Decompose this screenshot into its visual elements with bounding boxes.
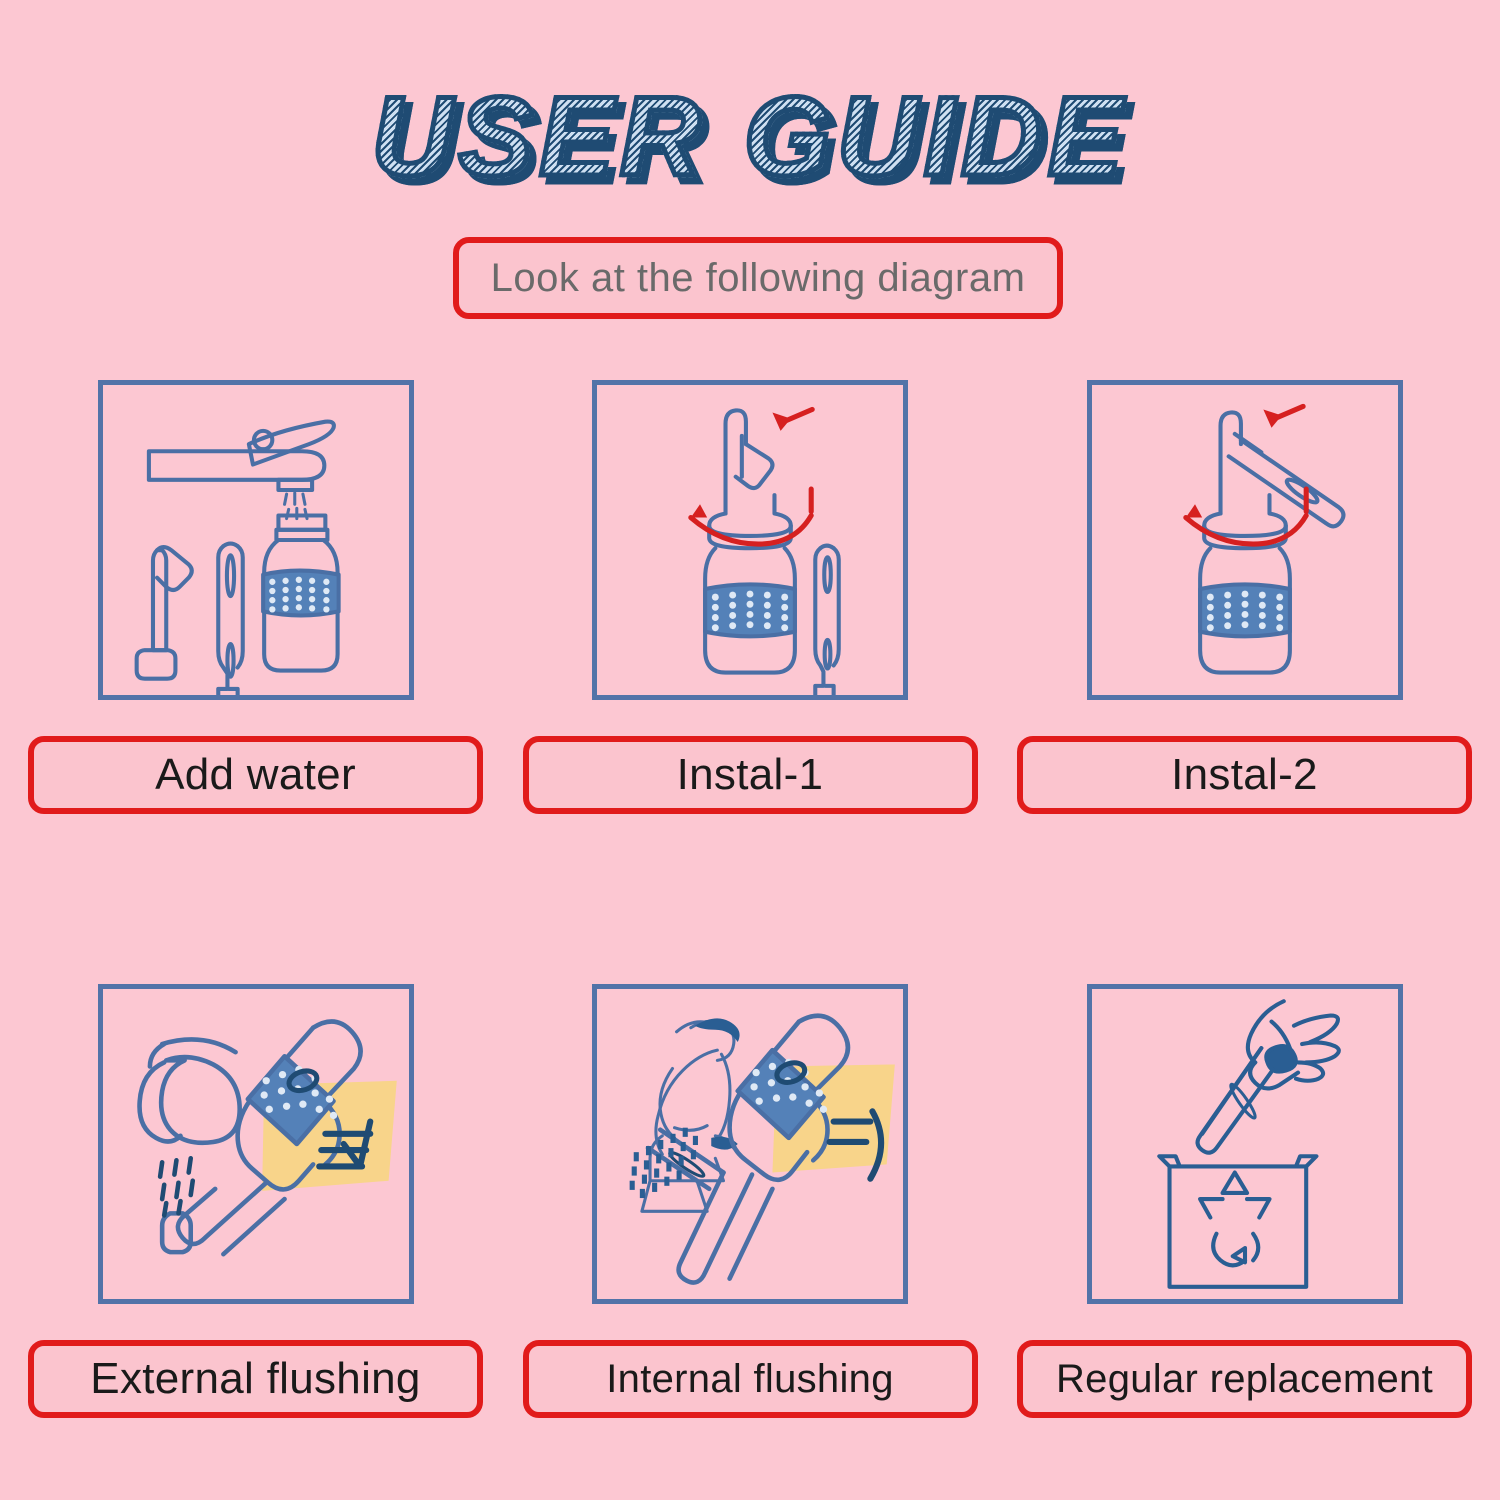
recycle-bin-replacement-icon	[1092, 989, 1398, 1299]
step-card-external-flushing: External flushing	[28, 984, 483, 1418]
internal-flush-icon	[597, 989, 903, 1299]
step-label-text-3: Instal-2	[1171, 750, 1318, 800]
step-label-text-6: Regular replacement	[1056, 1357, 1433, 1402]
faucet-bottle-icon	[103, 385, 409, 695]
step-card-instal-1: Instal-1	[523, 380, 978, 814]
step-card-regular-replacement: Regular replacement	[1017, 984, 1472, 1418]
page-title-wrap: USER GUIDE	[0, 78, 1500, 196]
step-illustration-panel-5	[592, 984, 908, 1304]
short-nozzle-install-icon	[597, 385, 903, 695]
step-label-text-2: Instal-1	[677, 750, 824, 800]
page-title: USER GUIDE	[372, 81, 1129, 193]
step-card-add-water: Add water	[28, 380, 483, 814]
step-illustration-panel-2	[592, 380, 908, 700]
step-label-text-4: External flushing	[90, 1354, 420, 1404]
step-label-1[interactable]: Add water	[28, 736, 483, 814]
step-label-3[interactable]: Instal-2	[1017, 736, 1472, 814]
step-card-internal-flushing: Internal flushing	[523, 984, 978, 1418]
step-label-4[interactable]: External flushing	[28, 1340, 483, 1418]
external-flush-icon	[103, 989, 409, 1299]
step-label-5[interactable]: Internal flushing	[523, 1340, 978, 1418]
steps-row-top: Add water	[0, 380, 1500, 814]
step-label-6[interactable]: Regular replacement	[1017, 1340, 1472, 1418]
step-label-text-1: Add water	[155, 750, 356, 800]
steps-row-bottom: External flushing	[0, 984, 1500, 1418]
step-illustration-panel-3	[1087, 380, 1403, 700]
step-label-2[interactable]: Instal-1	[523, 736, 978, 814]
step-illustration-panel-1	[98, 380, 414, 700]
step-illustration-panel-4	[98, 984, 414, 1304]
long-nozzle-install-icon	[1092, 385, 1398, 695]
steps-grid: Add water	[0, 380, 1500, 1418]
step-illustration-panel-6	[1087, 984, 1403, 1304]
subtitle-text: Look at the following diagram	[491, 256, 1026, 301]
step-label-text-5: Internal flushing	[606, 1357, 894, 1402]
step-card-instal-2: Instal-2	[1017, 380, 1472, 814]
subtitle-banner: Look at the following diagram	[453, 237, 1063, 319]
